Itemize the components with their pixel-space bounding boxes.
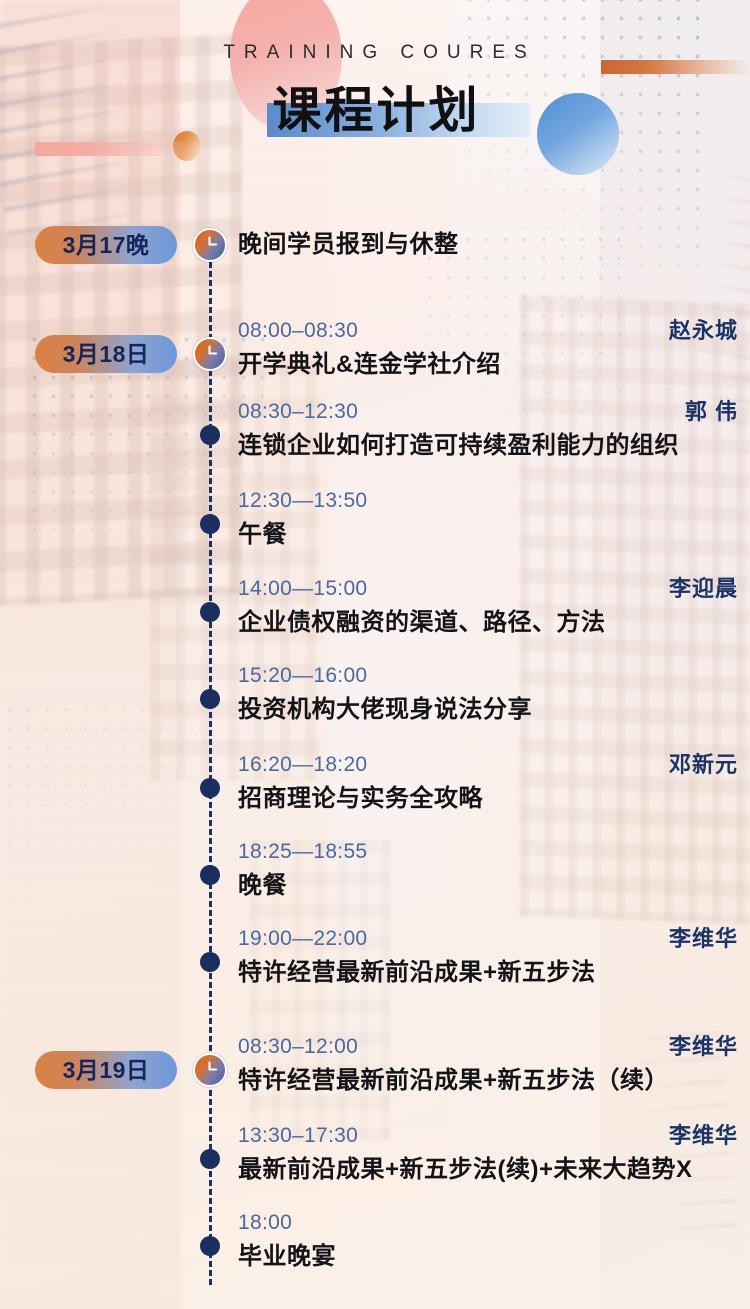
entry-time: 16:20—18:20 bbox=[238, 751, 367, 779]
entry-topic: 晚间学员报到与休整 bbox=[238, 226, 738, 262]
timeline-dot-marker bbox=[200, 425, 220, 445]
clock-icon bbox=[193, 1053, 227, 1087]
speaker-name: 邓新元 bbox=[669, 751, 738, 779]
entry-topic: 毕业晚宴 bbox=[238, 1237, 738, 1274]
speaker-name: 郭 伟 bbox=[685, 398, 738, 426]
entry-topic: 最新前沿成果+新五步法(续)+未来大趋势X bbox=[238, 1150, 738, 1187]
timeline-dot-marker bbox=[200, 952, 220, 972]
speaker-name: 李迎晨 bbox=[669, 575, 738, 603]
schedule-entry[interactable]: 邓新元16:20—18:20招商理论与实务全攻略 bbox=[238, 751, 738, 816]
schedule-entry[interactable]: 李迎晨14:00—15:00企业债权融资的渠道、路径、方法 bbox=[238, 575, 738, 640]
entry-time: 15:20—16:00 bbox=[238, 662, 367, 690]
schedule-entry[interactable]: 郭 伟08:30–12:30连锁企业如何打造可持续盈利能力的组织 bbox=[238, 398, 738, 463]
schedule-entry[interactable]: 15:20—16:00投资机构大佬现身说法分享 bbox=[238, 662, 738, 727]
entry-topic: 晚餐 bbox=[238, 866, 738, 903]
timeline-dot-marker bbox=[200, 865, 220, 885]
timeline-dot-marker bbox=[200, 1149, 220, 1169]
entry-topic: 开学典礼&连金学社介绍 bbox=[238, 345, 738, 382]
timeline-dot-marker bbox=[200, 602, 220, 622]
date-badge[interactable]: 3月17晚 bbox=[35, 226, 177, 264]
page-header: TRAINING COURES 课程计划 bbox=[0, 0, 750, 200]
entry-time: 18:00 bbox=[238, 1209, 292, 1237]
entry-topic: 特许经营最新前沿成果+新五步法（续） bbox=[238, 1061, 738, 1098]
timeline-dot-marker bbox=[200, 689, 220, 709]
entry-time: 08:30–12:00 bbox=[238, 1033, 358, 1061]
halftone-dots-mid-left bbox=[25, 330, 265, 620]
speaker-name: 李维华 bbox=[669, 925, 738, 953]
speaker-name: 李维华 bbox=[669, 1033, 738, 1061]
entry-topic: 午餐 bbox=[238, 515, 738, 552]
entry-time: 14:00—15:00 bbox=[238, 575, 367, 603]
entry-topic: 特许经营最新前沿成果+新五步法 bbox=[238, 953, 738, 990]
clock-icon bbox=[193, 228, 227, 262]
page-title-wrap: 课程计划 bbox=[0, 82, 750, 144]
schedule-entry[interactable]: 李维华13:30–17:30最新前沿成果+新五步法(续)+未来大趋势X bbox=[238, 1122, 738, 1187]
schedule-entry[interactable]: 18:00毕业晚宴 bbox=[238, 1209, 738, 1274]
date-badge[interactable]: 3月19日 bbox=[35, 1051, 177, 1089]
page-title: 课程计划 bbox=[0, 82, 750, 140]
schedule-entry[interactable]: 晚间学员报到与休整 bbox=[238, 226, 738, 262]
schedule-entry[interactable]: 赵永城08:00–08:30开学典礼&连金学社介绍 bbox=[238, 317, 738, 382]
date-badge[interactable]: 3月18日 bbox=[35, 335, 177, 373]
entry-topic: 招商理论与实务全攻略 bbox=[238, 779, 738, 816]
entry-time: 08:00–08:30 bbox=[238, 317, 358, 345]
schedule-entry[interactable]: 李维华19:00—22:00特许经营最新前沿成果+新五步法 bbox=[238, 925, 738, 990]
entry-topic: 连锁企业如何打造可持续盈利能力的组织 bbox=[238, 426, 738, 463]
schedule-entry[interactable]: 12:30—13:50午餐 bbox=[238, 487, 738, 552]
clock-icon bbox=[193, 337, 227, 371]
speaker-name: 赵永城 bbox=[669, 317, 738, 345]
schedule-entry[interactable]: 李维华08:30–12:00特许经营最新前沿成果+新五步法（续） bbox=[238, 1033, 738, 1098]
schedule-entry[interactable]: 18:25—18:55晚餐 bbox=[238, 838, 738, 903]
entry-time: 13:30–17:30 bbox=[238, 1122, 358, 1150]
entry-time: 08:30–12:30 bbox=[238, 398, 358, 426]
timeline-dot-marker bbox=[200, 514, 220, 534]
timeline-dot-marker bbox=[200, 1236, 220, 1256]
halftone-dots-bottom-left bbox=[0, 700, 210, 960]
entry-time: 19:00—22:00 bbox=[238, 925, 367, 953]
entry-topic: 企业债权融资的渠道、路径、方法 bbox=[238, 603, 738, 640]
entry-time: 18:25—18:55 bbox=[238, 838, 367, 866]
entry-time: 12:30—13:50 bbox=[238, 487, 367, 515]
header-kicker: TRAINING COURES bbox=[0, 42, 750, 64]
entry-topic: 投资机构大佬现身说法分享 bbox=[238, 690, 738, 727]
timeline-axis bbox=[209, 244, 212, 1285]
speaker-name: 李维华 bbox=[669, 1122, 738, 1150]
timeline-dot-marker bbox=[200, 778, 220, 798]
